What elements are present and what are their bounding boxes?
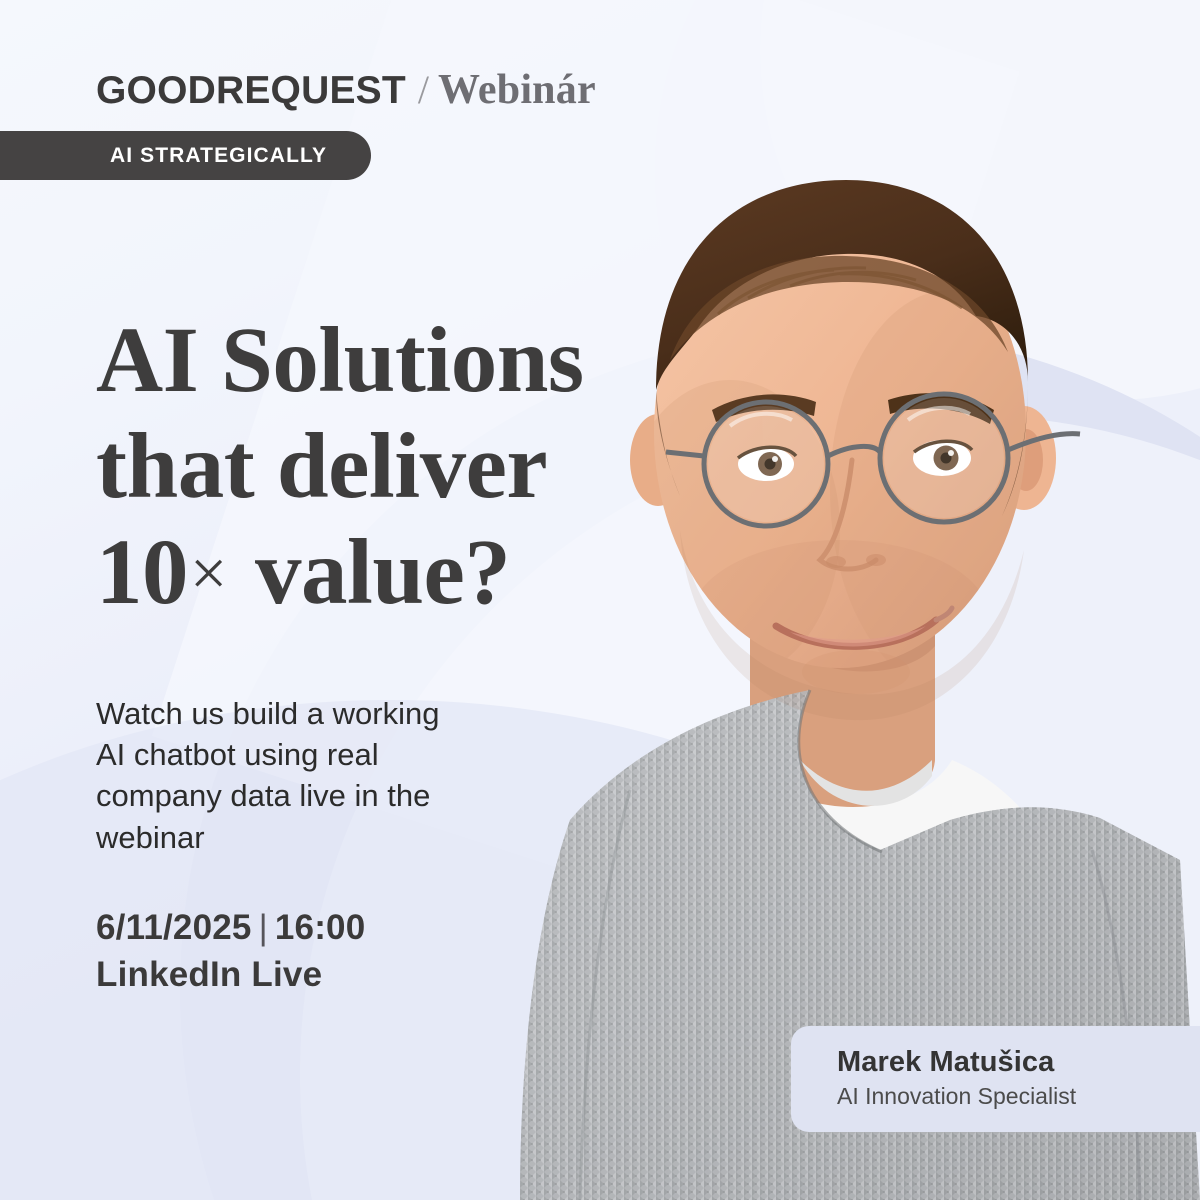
logo-wordmark: GOODREQUEST xyxy=(96,69,406,113)
event-time: 16:00 xyxy=(275,908,366,947)
multiplication-sign-icon: × xyxy=(188,537,232,610)
event-separator: | xyxy=(252,908,275,947)
webinar-promo-poster: GOODREQUEST / Webinár AI STRATEGICALLY A… xyxy=(0,0,1200,1200)
speaker-name-card: Marek Matušica AI Innovation Specialist xyxy=(791,1026,1200,1132)
headline-line-3: 10× value? xyxy=(96,520,736,626)
status-badge-label: AI STRATEGICALLY xyxy=(110,144,327,168)
logo-separator: / xyxy=(418,66,429,113)
headline-line-3-suffix: value? xyxy=(255,521,510,624)
page-title: AI Solutions that deliver 10× value? xyxy=(96,308,736,626)
headline-line-2: that deliver xyxy=(96,414,736,520)
event-date: 6/11/2025 xyxy=(96,908,252,947)
headline-multiplier-value: 10 xyxy=(96,521,188,624)
subtitle-line-2: AI chatbot using real xyxy=(96,734,516,775)
status-badge: AI STRATEGICALLY xyxy=(0,131,371,180)
subtitle-line-3: company data live in the xyxy=(96,775,516,816)
subtitle-description: Watch us build a working AI chatbot usin… xyxy=(96,693,516,858)
event-details: 6/11/2025|16:00 LinkedIn Live xyxy=(96,905,365,998)
event-date-time: 6/11/2025|16:00 xyxy=(96,905,365,952)
brand-logo: GOODREQUEST / Webinár xyxy=(96,66,596,114)
speaker-name: Marek Matušica xyxy=(837,1044,1200,1080)
logo-section-label: Webinár xyxy=(438,66,596,114)
event-platform: LinkedIn Live xyxy=(96,952,365,999)
subtitle-line-4: webinar xyxy=(96,817,516,858)
speaker-role: AI Innovation Specialist xyxy=(837,1082,1200,1112)
headline-line-1: AI Solutions xyxy=(96,308,736,414)
subtitle-line-1: Watch us build a working xyxy=(96,693,516,734)
